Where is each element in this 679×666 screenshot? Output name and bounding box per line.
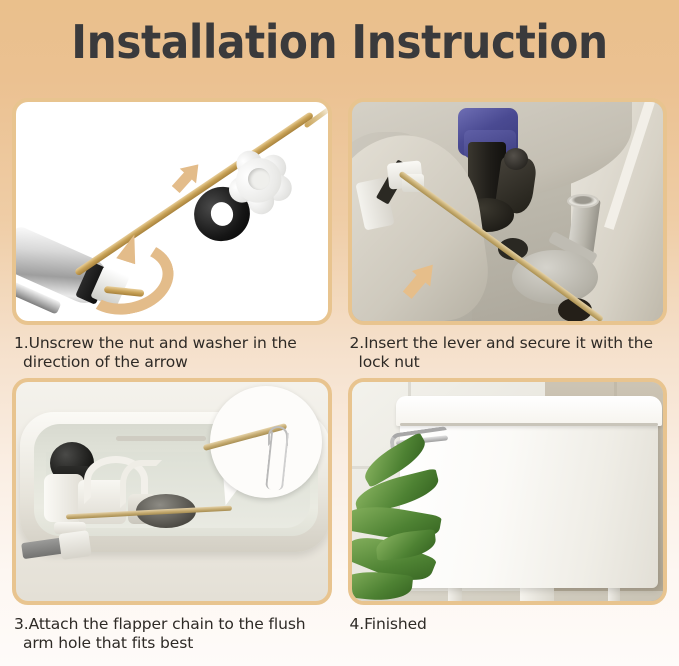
external-handle-base-icon bbox=[58, 530, 91, 560]
steps-grid: 1.Unscrew the nut and washer in the dire… bbox=[0, 98, 679, 659]
tank-rim-line bbox=[116, 436, 206, 441]
step-4: 4.Finished bbox=[340, 378, 679, 659]
steps-row-top: 1.Unscrew the nut and washer in the dire… bbox=[0, 98, 679, 378]
toilet-tank-lid bbox=[396, 396, 662, 426]
step-2-photo bbox=[352, 102, 664, 321]
step-3-image bbox=[12, 378, 332, 605]
page-title: Installation Instruction bbox=[27, 14, 652, 70]
step-3: 3.Attach the flapper chain to the flush … bbox=[0, 378, 340, 659]
step-2: 2.Insert the lever and secure it with th… bbox=[340, 98, 679, 378]
step-3-caption: 3.Attach the flapper chain to the flush … bbox=[12, 605, 332, 659]
step-4-caption: 4.Finished bbox=[348, 605, 668, 659]
fill-valve-knob-icon bbox=[504, 148, 528, 170]
steps-row-bottom: 3.Attach the flapper chain to the flush … bbox=[0, 378, 679, 659]
step-1-illustration bbox=[16, 102, 328, 321]
step-4-image bbox=[348, 378, 668, 605]
tank-lid-seam bbox=[400, 423, 658, 426]
step-3-photo bbox=[16, 382, 328, 601]
step-1-image bbox=[12, 98, 332, 325]
magnifier-callout bbox=[210, 386, 322, 498]
step-1-caption: 1.Unscrew the nut and washer in the dire… bbox=[12, 325, 332, 378]
overflow-tube-opening bbox=[567, 194, 599, 208]
step-2-caption: 2.Insert the lever and secure it with th… bbox=[348, 325, 668, 378]
step-2-image bbox=[348, 98, 668, 325]
step-4-photo bbox=[352, 382, 664, 601]
step-1: 1.Unscrew the nut and washer in the dire… bbox=[0, 98, 340, 378]
flapper-icon bbox=[512, 250, 598, 304]
installation-instruction-page: Installation Instruction bbox=[0, 0, 679, 666]
